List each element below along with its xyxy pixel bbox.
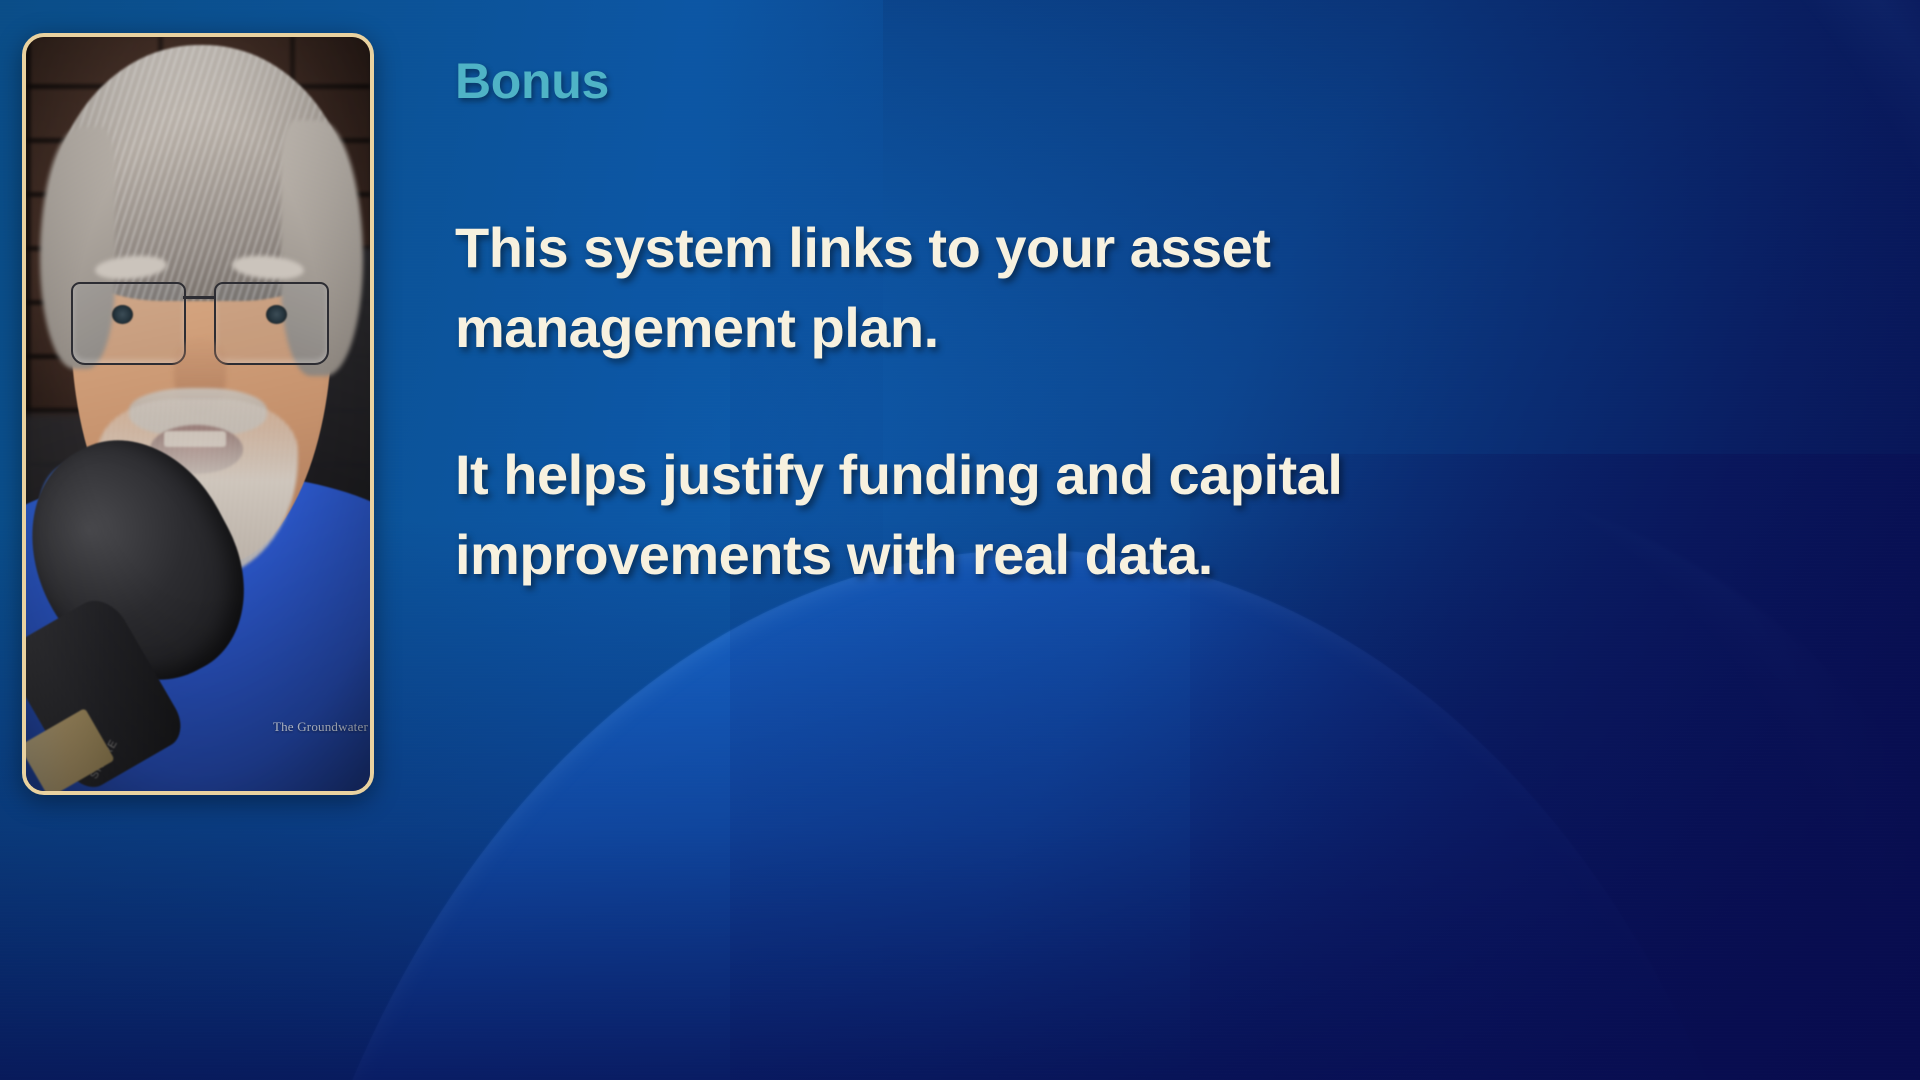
slide-eyebrow-heading: Bonus [455,52,609,110]
presentation-slide: SHURE The Groundwater Bonus This system … [0,0,1920,1080]
slide-text-column: Bonus This system links to your asset ma… [455,0,1865,1080]
eyeglass-lens-right [214,282,329,365]
webcam-video-frame: SHURE The Groundwater [26,37,370,791]
slide-body-text: This system links to your asset manageme… [455,208,1455,594]
slide-paragraph-2: It helps justify funding and capital imp… [455,435,1455,594]
eyeglass-bridge [183,296,217,299]
eyeglass-lens-left [71,282,186,365]
slide-paragraph-1: This system links to your asset manageme… [455,208,1455,367]
webcam-video-card[interactable]: SHURE The Groundwater [22,33,374,795]
shirt-embroidery-label: The Groundwater [273,719,368,735]
